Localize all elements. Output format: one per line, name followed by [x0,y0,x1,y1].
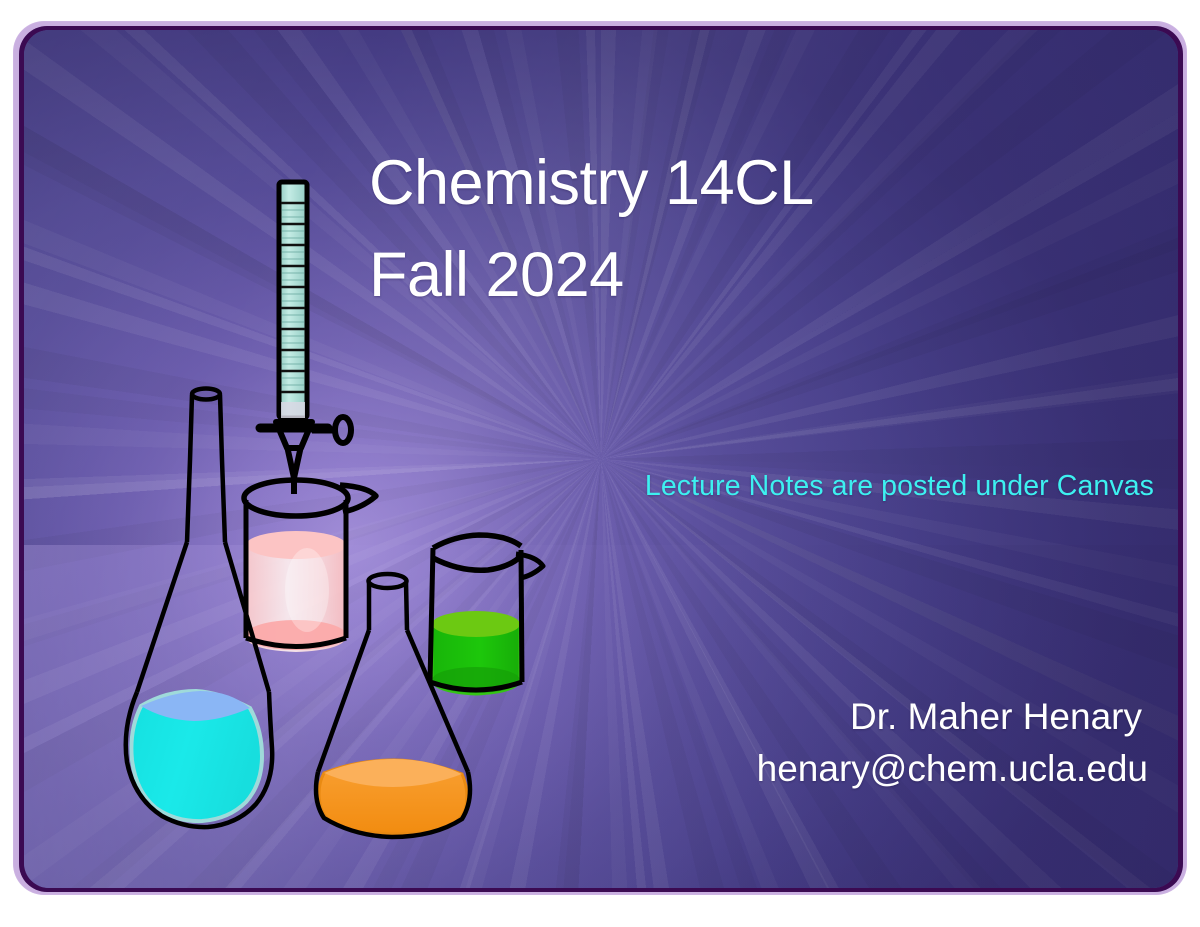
instructor-email[interactable]: henary@chem.ucla.edu [24,740,1148,797]
slide-title-line-1: Chemistry 14CL [369,138,1109,230]
presentation-slide: Chemistry 14CL Fall 2024 Lecture Notes a… [0,0,1200,927]
slide-author-block: Dr. Maher Henary henary@chem.ucla.edu [24,694,1148,798]
instructor-name: Dr. Maher Henary [24,694,1148,740]
slide-subtitle-canvas-note: Lecture Notes are posted under Canvas [24,470,1154,503]
slide-title: Chemistry 14CL Fall 2024 [369,138,1109,322]
slide-title-line-2: Fall 2024 [369,230,1109,322]
slide-canvas: Chemistry 14CL Fall 2024 Lecture Notes a… [24,30,1178,888]
